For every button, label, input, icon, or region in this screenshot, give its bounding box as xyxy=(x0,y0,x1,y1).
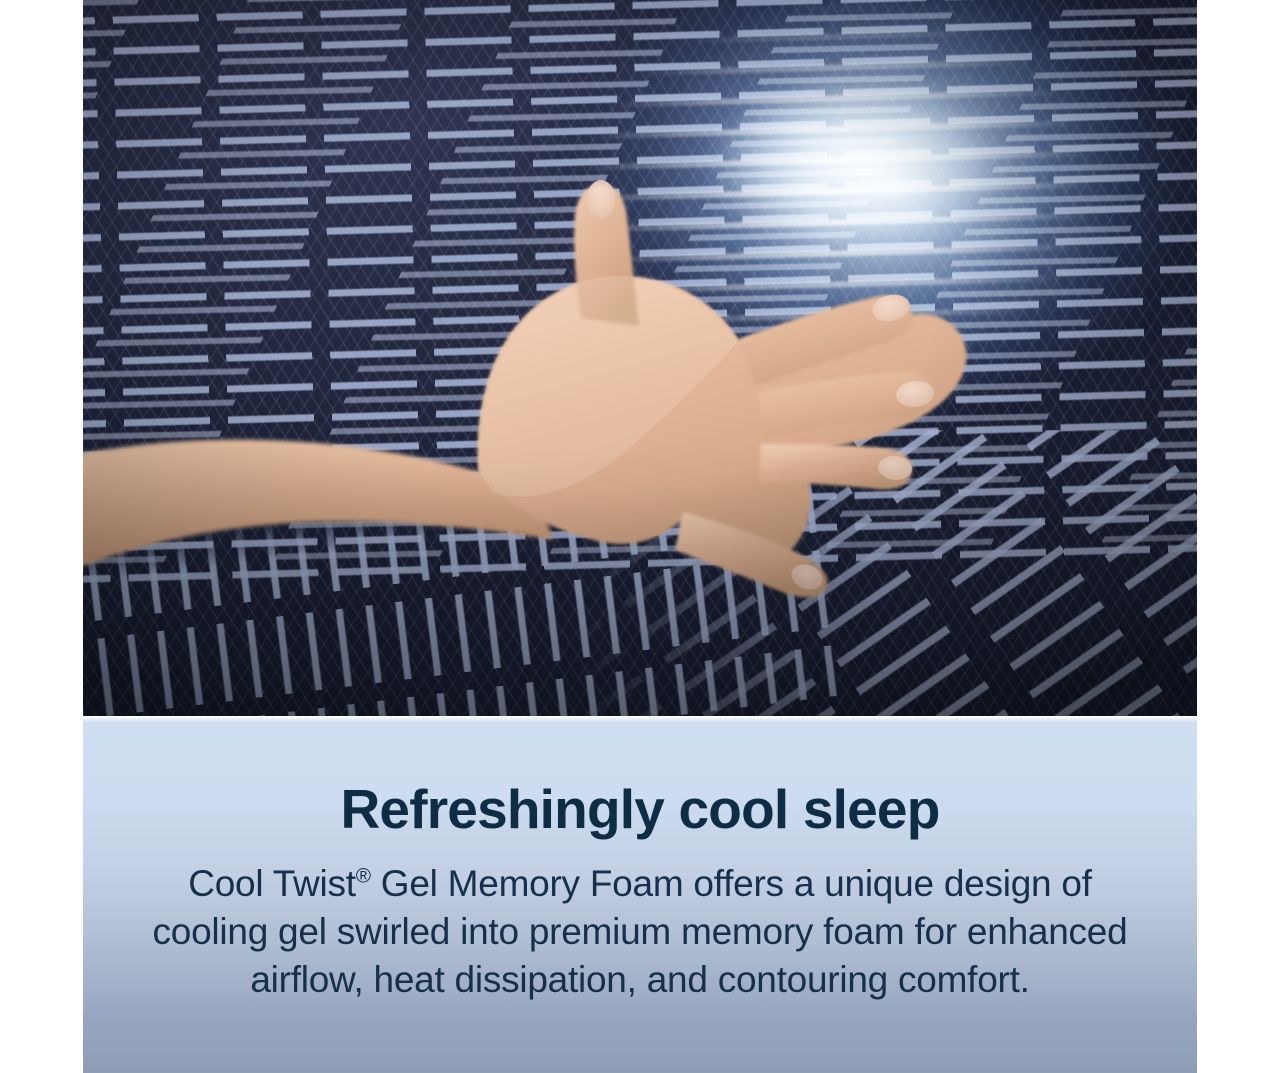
caption-content: Refreshingly cool sleep Cool Twist® Gel … xyxy=(83,718,1197,1004)
caption-body-line-2: cooling gel swirled into premium memory … xyxy=(83,908,1197,956)
fabric-diagonal-dash-rows xyxy=(573,430,1197,716)
mattress-cooling-fabric-photo xyxy=(83,0,1197,716)
caption-body-line-3: airflow, heat dissipation, and contourin… xyxy=(83,956,1197,1004)
caption-panel: Refreshingly cool sleep Cool Twist® Gel … xyxy=(83,718,1197,1073)
caption-body-line-1-pre: Cool Twist xyxy=(188,863,356,904)
caption-headline: Refreshingly cool sleep xyxy=(83,718,1197,838)
caption-body-line-1-post: Gel Memory Foam offers a unique design o… xyxy=(371,863,1092,904)
registered-trademark-icon: ® xyxy=(356,865,371,888)
page-root: Refreshingly cool sleep Cool Twist® Gel … xyxy=(0,0,1280,1073)
caption-body-line-1: Cool Twist® Gel Memory Foam offers a uni… xyxy=(83,860,1197,908)
caption-body: Cool Twist® Gel Memory Foam offers a uni… xyxy=(83,838,1197,1004)
